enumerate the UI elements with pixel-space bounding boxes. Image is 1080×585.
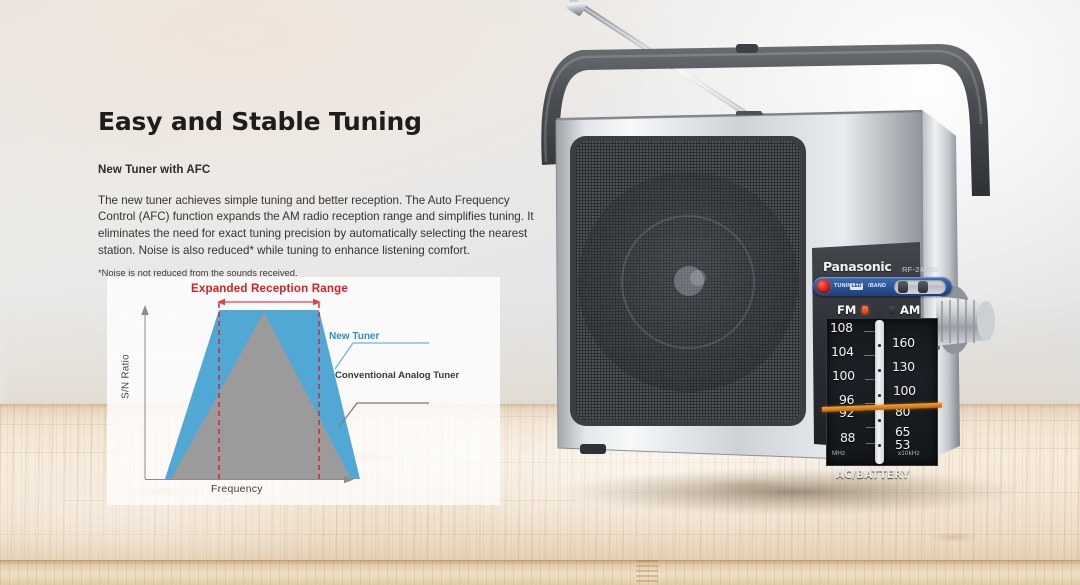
chart-x-axis-label: Frequency bbox=[211, 484, 263, 495]
am-scale-mark: 160 bbox=[892, 335, 915, 350]
speaker-highlight bbox=[690, 270, 706, 286]
legend-leader-conventional bbox=[339, 403, 429, 427]
am-scale-mark: 130 bbox=[892, 359, 915, 374]
chart-legend-new-tuner: New Tuner bbox=[329, 331, 379, 342]
dial-strip-dot bbox=[878, 369, 881, 372]
model-number: RF-2400D bbox=[902, 265, 939, 274]
range-arrow-head-right bbox=[313, 299, 321, 306]
dial-strip-dot bbox=[878, 444, 881, 447]
y-axis-arrow bbox=[141, 305, 149, 315]
am-scale-mark: 100 bbox=[893, 383, 916, 398]
led-badge: LED bbox=[850, 283, 863, 290]
fm-unit-label: MHz bbox=[832, 450, 845, 457]
legend-leader-new-tuner bbox=[335, 343, 429, 369]
dial-strip-dot bbox=[878, 419, 881, 422]
dial-strip-dot bbox=[878, 344, 881, 347]
am-band-label: AM bbox=[900, 303, 920, 317]
band-label: /BAND bbox=[868, 283, 886, 289]
plank-seam bbox=[0, 534, 1080, 535]
band-slider-thumb[interactable] bbox=[898, 281, 908, 293]
chart-legend-conventional: Conventional Analog Tuner bbox=[335, 370, 459, 382]
table-front-edge bbox=[0, 560, 1080, 585]
power-source-label: AC/BATTERY bbox=[836, 470, 910, 481]
reception-range-chart: Expanded Reception Range New Tuner Conve… bbox=[107, 277, 500, 505]
fm-scale-mark: 88 bbox=[840, 430, 855, 445]
panasonic-radio-product-image: Panasonic RF-2400D TUNING LED /BAND FM A… bbox=[520, 0, 1080, 520]
brand-logo: Panasonic bbox=[823, 259, 892, 274]
fm-band-label: FM bbox=[837, 303, 856, 317]
radio-svg bbox=[520, 0, 1080, 520]
copy-block: Easy and Stable Tuning New Tuner with AF… bbox=[98, 108, 548, 278]
band-slider-thumb[interactable] bbox=[918, 281, 928, 293]
am-unit-label: x10kHz bbox=[898, 450, 920, 457]
section-subtitle: New Tuner with AFC bbox=[98, 164, 548, 176]
chart-y-axis-label: S/N Ratio bbox=[121, 342, 132, 412]
page-title: Easy and Stable Tuning bbox=[98, 108, 548, 137]
fm-scale-mark: 104 bbox=[831, 344, 854, 359]
fm-scale-mark: 108 bbox=[830, 320, 853, 335]
fm-scale-mark: 100 bbox=[832, 368, 855, 383]
chart-title: Expanded Reception Range bbox=[191, 282, 348, 295]
tuning-led-indicator bbox=[817, 280, 830, 293]
radio-drop-shadow bbox=[560, 468, 1024, 516]
dial-slider-strip[interactable] bbox=[875, 320, 884, 464]
table-edge-joint bbox=[636, 560, 658, 585]
cabinet-foot bbox=[580, 444, 606, 454]
body-paragraph: The new tuner achieves simple tuning and… bbox=[98, 193, 541, 259]
chart-svg bbox=[107, 277, 500, 505]
tuning-knob[interactable] bbox=[936, 286, 995, 354]
wood-grain-knot bbox=[930, 532, 978, 542]
dial-strip-dot bbox=[878, 394, 881, 397]
am-inactive-indicator-icon bbox=[889, 306, 895, 314]
range-arrow-head-left bbox=[217, 299, 225, 306]
fm-active-indicator-icon bbox=[862, 306, 868, 314]
